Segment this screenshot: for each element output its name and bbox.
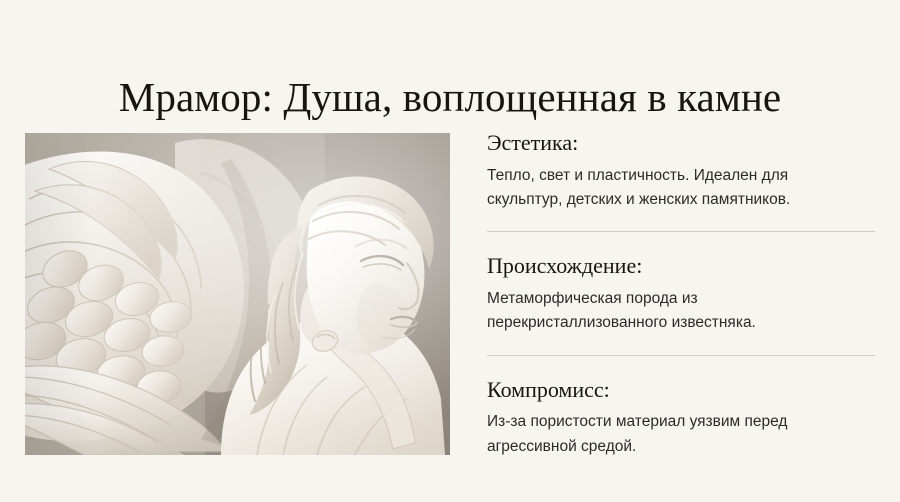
- info-block-body: Тепло, свет и пластичность. Идеален для …: [487, 164, 862, 213]
- slide-root: Мрамор: Душа, воплощенная в камне: [0, 0, 900, 502]
- page-title: Мрамор: Душа, воплощенная в камне: [0, 75, 900, 120]
- info-block-heading: Происхождение:: [487, 252, 877, 280]
- info-block-heading: Компромисс:: [487, 376, 877, 404]
- info-block-heading: Эстетика:: [487, 129, 877, 157]
- info-block-aesthetics: Эстетика: Тепло, свет и пластичность. Ид…: [487, 129, 877, 212]
- section-divider-1: [487, 231, 875, 232]
- info-block-origin: Происхождение: Метаморфическая порода из…: [487, 252, 877, 335]
- info-block-tradeoff: Компромисс: Из-за пористости материал уя…: [487, 376, 877, 459]
- info-column: Эстетика: Тепло, свет и пластичность. Ид…: [487, 129, 877, 459]
- marble-angel-statue-photo: [25, 133, 450, 455]
- info-block-body: Из-за пористости материал уязвим перед а…: [487, 410, 862, 459]
- statue-illustration: [25, 133, 450, 455]
- section-divider-2: [487, 355, 875, 356]
- info-block-body: Метаморфическая порода из перекристаллиз…: [487, 287, 862, 336]
